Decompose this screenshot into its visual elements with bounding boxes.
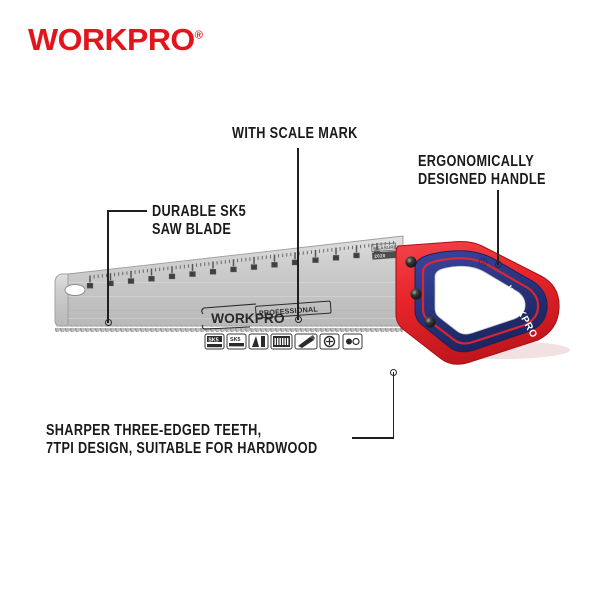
leader-line-scale-mark: [297, 148, 299, 320]
leader-line-handle: [497, 190, 499, 265]
svg-text:2020: 2020: [374, 253, 386, 259]
blade-hang-hole: [65, 285, 85, 296]
leader-endpoint-teeth: [390, 369, 397, 376]
callout-label-handle: ERGONOMICALLY DESIGNED HANDLE: [418, 153, 546, 190]
registered-trademark-icon: ®: [195, 30, 203, 42]
brand-logo: WORKPRO®: [28, 22, 203, 58]
leader-endpoint-blade: [105, 319, 112, 326]
blade-badge-row: SK5 SK5: [205, 334, 362, 349]
saw-handle: WORKPRO: [396, 242, 570, 365]
rivet: [424, 316, 435, 327]
rivet: [405, 256, 416, 267]
callout-label-teeth: SHARPER THREE-EDGED TEETH, 7TPI DESIGN, …: [46, 422, 317, 459]
leader-endpoint-scale-mark: [295, 316, 302, 323]
svg-text:SK5: SK5: [208, 337, 219, 343]
callout-label-scale-mark: WITH SCALE MARK: [232, 125, 358, 143]
leader-line-blade-vertical: [107, 210, 109, 323]
leader-line-teeth-horizontal: [352, 437, 394, 439]
leader-line-blade-horizontal: [107, 210, 147, 212]
rivet: [410, 288, 421, 299]
svg-text:SK5: SK5: [230, 337, 241, 343]
callout-label-blade: DURABLE SK5 SAW BLADE: [152, 203, 246, 240]
hand-saw-illustration: WORKPRO PROFESSIONAL SK5 SK5: [0, 230, 600, 380]
brand-logo-text: WORKPRO: [28, 22, 195, 57]
infographic-canvas: WORKPRO®: [0, 0, 600, 600]
leader-line-teeth-vertical: [393, 372, 395, 438]
leader-endpoint-handle: [495, 261, 502, 268]
